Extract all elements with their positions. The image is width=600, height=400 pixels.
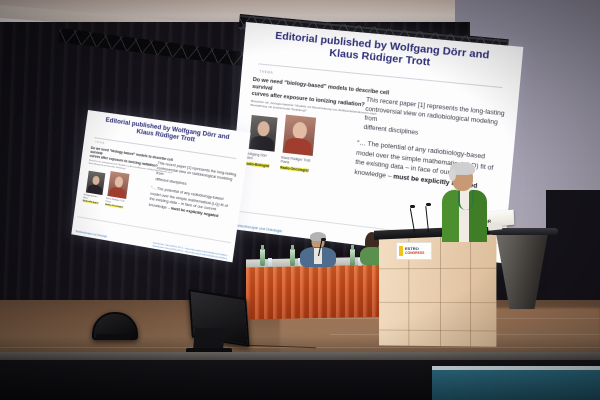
author-photo-doerr-secondary [86, 171, 106, 195]
panel-table-skirt-pleats [246, 264, 394, 319]
speaker-vest-left [442, 190, 459, 242]
author-caption-doerr-secondary: Wolfgang Dörr Wien Radio-Biologist [83, 194, 105, 206]
speaker-badge [459, 210, 468, 217]
author-photo-doerr-body [250, 135, 274, 152]
lectern-panel-line [379, 330, 496, 332]
water-bottle [350, 249, 355, 266]
stage-monitor-far-left-base [96, 334, 130, 340]
lectern-panel-line [379, 268, 496, 270]
cocktail-table-cover [496, 233, 548, 309]
author-photo-trott-body [284, 137, 312, 156]
lectern-microphone-head-2 [426, 203, 431, 206]
speaker-hair-side [449, 169, 456, 181]
stage-monitor-far-left [92, 312, 136, 352]
paper-header-secondary: THEMA [94, 141, 104, 144]
water-glass [268, 258, 272, 266]
panel-table: Moderator [246, 258, 394, 318]
conference-stage-photo: Editorial published by Wolfgang Dörr and… [0, 0, 600, 400]
stage-monitor-left [184, 294, 246, 360]
lectern-microphone-head [410, 205, 415, 208]
lectern: ESTRO CONGRESS Chair SCHNEIDER [378, 228, 496, 346]
cocktail-table-papers [488, 222, 503, 230]
panel-table-skirt [246, 264, 394, 319]
cocktail-table [492, 228, 554, 312]
author-caption-trott-secondary: Klaus Rüdiger Trott Pavia Radio-Oncologi… [105, 198, 130, 210]
author-photo-trott-secondary [107, 171, 129, 199]
author-caption-trott: Klaus Rüdiger Trott Pavia Radio-Oncologi… [280, 155, 319, 173]
congress-logo: ESTRO CONGRESS [396, 242, 432, 260]
author-photo-doerr-secondary-body [87, 183, 103, 194]
water-bottle [260, 249, 265, 266]
paper-header: THEMA [259, 70, 273, 75]
right-wall-shadow [546, 190, 600, 310]
author-photo-doerr [249, 115, 278, 152]
speaker-lanyard [458, 190, 474, 210]
congress-logo-bottom: CONGRESS [405, 251, 424, 255]
water-bottle [290, 249, 295, 266]
author-caption-doerr: Wolfgang Dörr Wien Radio-Biologist [244, 151, 277, 168]
author-photo-trott [283, 115, 317, 156]
seated-panelist-1 [298, 234, 338, 264]
author-photo-trott-secondary-body [108, 186, 126, 199]
lectern-panel-line [379, 302, 496, 303]
slide-body-text: This recent paper [1] represents the lon… [363, 96, 510, 148]
table-microphone-head [321, 238, 326, 241]
congress-logo-bar-icon [399, 246, 403, 256]
stage-front-panel [432, 370, 600, 400]
